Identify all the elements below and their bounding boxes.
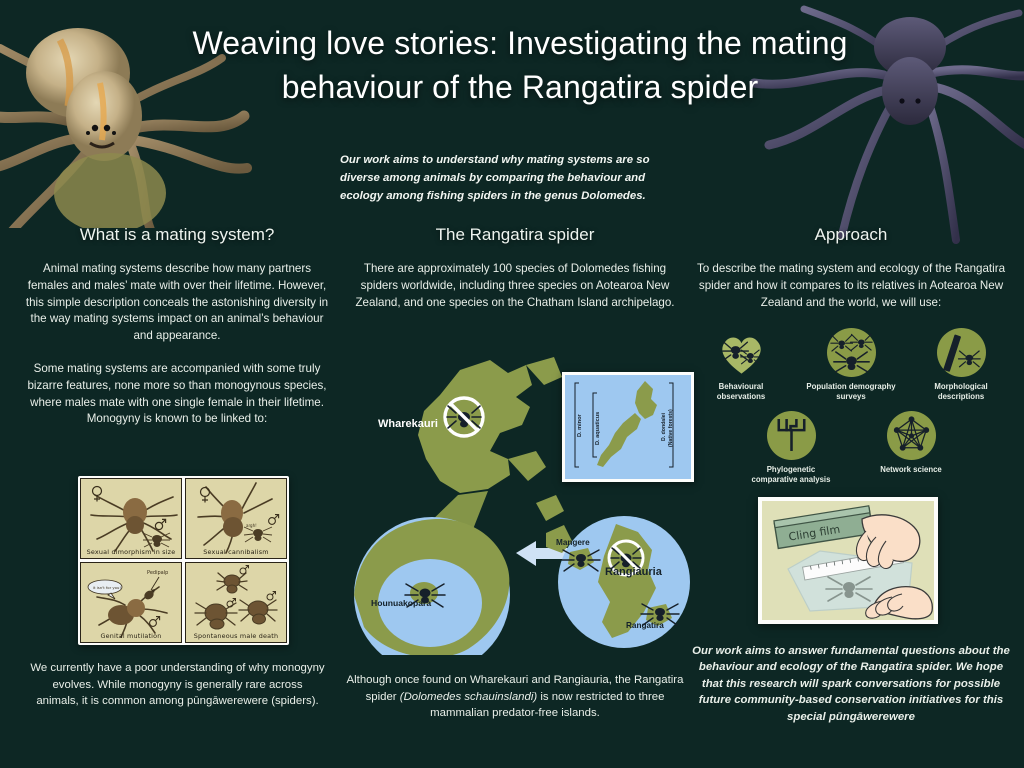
middle-column-caption: Although once found on Wharekauri and Ra… — [345, 672, 685, 722]
method-morphological-descriptions[interactable]: Morphological descriptions — [915, 328, 1007, 402]
left-column-heading: What is a mating system? — [22, 225, 332, 245]
network-science-circle — [887, 411, 936, 460]
left-column-paragraph-2: Some mating systems are accompanied with… — [22, 361, 332, 428]
spiders-in-heart-icon — [717, 328, 766, 378]
figure-panel-caption: Sexual cannibalism — [186, 548, 286, 556]
figure-panel-genital-mutilation: Pedipalp it isn't for you! Genital mutil… — [80, 562, 182, 643]
phylogenetic-analysis-circle — [767, 411, 816, 460]
multiple-spiders-icon — [827, 328, 876, 378]
morphological-descriptions-circle — [937, 328, 986, 377]
network-graph-icon — [887, 410, 936, 460]
method-label: Behavioural observations — [695, 382, 787, 402]
method-behavioural-observations[interactable]: Behavioural observations — [695, 328, 787, 402]
phylogenetic-tree-icon — [767, 410, 816, 460]
pedipalp-annotation: Pedipalp — [147, 570, 168, 576]
poster-intro-text: Our work aims to understand why mating s… — [340, 152, 685, 205]
method-label: Morphological descriptions — [915, 382, 1007, 402]
svg-text:argh!: argh! — [246, 523, 257, 528]
figure-panel-spontaneous-death: Spontaneous male death — [185, 562, 287, 643]
hounuakopara-lake — [378, 559, 482, 647]
spontaneous-male-death-illustration — [186, 563, 286, 643]
svg-text:it isn't for you!: it isn't for you! — [93, 585, 121, 590]
nz-species-label-d-dondalei: D. dondalei — [661, 412, 667, 441]
figure-panel-dimorphism: Sexual dimorphism in size — [80, 478, 182, 559]
method-label: Population demography surveys — [805, 382, 897, 402]
middle-column: The Rangatira spider There are approxima… — [345, 225, 685, 327]
middle-column-paragraph-1: There are approximately 100 species of D… — [345, 261, 685, 311]
nz-north-island — [635, 381, 657, 419]
nz-species-label-d-minor: D. minor — [577, 413, 583, 437]
right-column-paragraph-1: To describe the mating system and ecolog… — [690, 261, 1012, 311]
left-column-caption: We currently have a poor understanding o… — [30, 660, 325, 710]
right-column: Approach To describe the mating system a… — [690, 225, 1012, 327]
method-network-science[interactable]: Network science — [865, 411, 957, 485]
method-population-demography-surveys[interactable]: Population demography surveys — [805, 328, 897, 402]
measuring-spider-photo-inner: Cling film — [762, 501, 934, 620]
approach-methods-row-2: Phylogenetic comparative analysis — [690, 411, 1012, 485]
caption-species-name: (Dolomedes schauinslandi) — [400, 691, 537, 703]
poster-root: Weaving love stories: Investigating the … — [0, 0, 1024, 768]
nz-species-label-d-dondalei-habitat: (Native forests) — [668, 409, 674, 447]
approach-methods-row-1: Behavioural observations — [690, 328, 1012, 402]
left-column-paragraph-1: Animal mating systems describe how many … — [22, 261, 332, 345]
nz-species-label-d-aquaticus: D. aquaticus — [595, 412, 601, 445]
rangiauria-map — [520, 516, 720, 656]
middle-column-heading: The Rangatira spider — [345, 225, 685, 245]
left-column: What is a mating system? Animal mating s… — [22, 225, 332, 444]
right-column-heading: Approach — [690, 225, 1012, 245]
population-demography-circle — [827, 328, 876, 377]
new-zealand-inset-figure: D. minor D. aquaticus D. dondalei (Nativ… — [562, 372, 694, 482]
nz-south-island — [597, 413, 641, 467]
ruler-and-spider-icon — [937, 328, 986, 378]
genital-mutilation-illustration: Pedipalp it isn't for you! — [81, 563, 181, 643]
figure-panel-cannibalism: argh! Sexual cannibalism — [185, 478, 287, 559]
approach-methods-list: Behavioural observations — [690, 328, 1012, 485]
new-zealand-inset-inner: D. minor D. aquaticus D. dondalei (Nativ… — [565, 375, 691, 479]
sexual-cannibalism-illustration: argh! — [186, 479, 286, 559]
method-phylogenetic-comparative-analysis[interactable]: Phylogenetic comparative analysis — [745, 411, 837, 485]
method-label: Phylogenetic comparative analysis — [745, 465, 837, 485]
method-label: Network science — [865, 465, 957, 475]
figure-panel-caption: Spontaneous male death — [186, 632, 286, 640]
figure-panel-caption: Genital mutilation — [81, 632, 181, 640]
sexual-dimorphism-illustration — [81, 479, 181, 559]
monogyny-traits-figure: Sexual dimorphism in size — [78, 476, 289, 645]
poster-title: Weaving love stories: Investigating the … — [120, 22, 920, 109]
measuring-spider-photo: Cling film — [758, 497, 938, 624]
figure-panel-caption: Sexual dimorphism in size — [81, 548, 181, 556]
right-column-caption: Our work aims to answer fundamental ques… — [692, 643, 1010, 725]
